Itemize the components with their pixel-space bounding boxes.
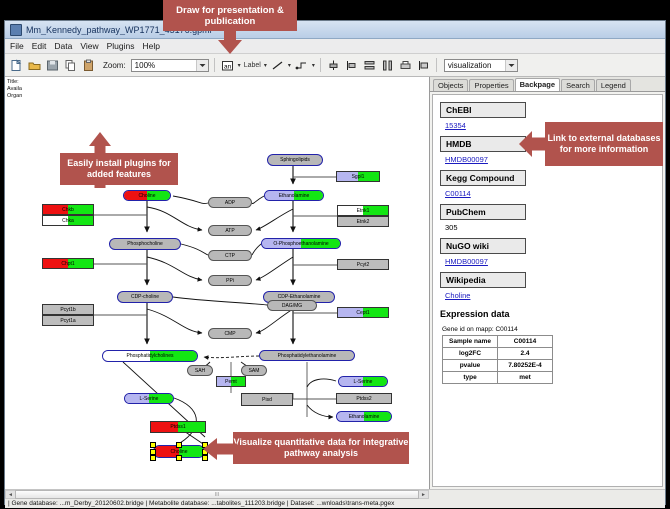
- distribute-vertical-icon[interactable]: [362, 58, 377, 73]
- visualization-chevron-down-icon[interactable]: [505, 60, 517, 71]
- db-header-nugo-wiki: NuGO wiki: [440, 238, 526, 254]
- toolbar-separator-2: [320, 58, 321, 72]
- selection-handle[interactable]: [150, 442, 156, 448]
- title-bar: Mm_Kennedy_pathway_WP1771_45176.gpml: [5, 21, 665, 39]
- gene-label: Pcyt1b: [60, 307, 75, 313]
- scrollbar-thumb[interactable]: III: [15, 490, 419, 499]
- gene-ptdss1[interactable]: Ptdss1: [150, 421, 206, 433]
- menu-item-help[interactable]: Help: [143, 41, 160, 51]
- text-format-icon[interactable]: an: [220, 58, 235, 73]
- metabolite-label: Ethanolamine: [279, 193, 310, 199]
- gene-etnk1[interactable]: Etnk1: [337, 205, 389, 216]
- db-header-kegg-compound: Kegg Compound: [440, 170, 526, 186]
- gene-pcyt1b[interactable]: Pcyt1b: [42, 304, 94, 315]
- status-area: ◄ III ► | Gene database: ...m_Derby_2012…: [5, 489, 665, 508]
- callout-links: Link to external databases for more info…: [545, 122, 663, 166]
- pathway-canvas[interactable]: Title: Availa Organ: [5, 77, 430, 489]
- gene-chka[interactable]: Chka: [42, 215, 94, 226]
- horizontal-scrollbar[interactable]: ◄ III ►: [5, 490, 429, 499]
- metabolite-l-serine[interactable]: L-Serine: [124, 393, 174, 404]
- label-dropdown-icon[interactable]: ▾: [264, 62, 267, 69]
- metabolite-label: Phosphatidylethanolamine: [278, 353, 337, 359]
- print-icon[interactable]: [398, 58, 413, 73]
- tab-search[interactable]: Search: [561, 79, 595, 91]
- menu-item-plugins[interactable]: Plugins: [107, 41, 135, 51]
- tab-properties[interactable]: Properties: [469, 79, 513, 91]
- metabolite-choline[interactable]: Choline: [123, 190, 171, 201]
- paste-icon[interactable]: [81, 58, 96, 73]
- gene-pisd[interactable]: Pisd: [241, 393, 293, 406]
- cofactor-label: SAH: [195, 368, 205, 374]
- gene-pcyt2[interactable]: Pcyt2: [337, 259, 389, 270]
- selection-handle[interactable]: [176, 442, 182, 448]
- line-icon[interactable]: [270, 58, 285, 73]
- menu-item-edit[interactable]: Edit: [32, 41, 47, 51]
- meta-organism-label: Organ: [7, 93, 22, 100]
- table-row: type met: [443, 372, 553, 384]
- expr-value-pvalue: 7.80252E-4: [498, 360, 553, 372]
- metabolite-ethanolamine[interactable]: Ethanolamine: [336, 411, 392, 422]
- selection-handle[interactable]: [150, 449, 156, 455]
- metabolite-label: Phosphocholine: [127, 241, 163, 247]
- gene-label: Chpt1: [61, 261, 74, 267]
- connector-dropdown-icon[interactable]: ▾: [312, 62, 315, 69]
- db-link-wikipedia[interactable]: Choline: [445, 291, 655, 300]
- metabolite-phosphatidylcholines[interactable]: Phosphatidylcholines: [102, 350, 198, 362]
- new-file-icon[interactable]: [9, 58, 24, 73]
- cofactor-label: PPi: [226, 278, 234, 284]
- expr-value-sample-name: C00114: [498, 336, 553, 348]
- menu-item-data[interactable]: Data: [54, 41, 72, 51]
- gene-label: Etnk2: [357, 219, 370, 225]
- cofactor-atp[interactable]: ATP: [208, 225, 252, 236]
- selection-handle[interactable]: [150, 455, 156, 461]
- connector-icon[interactable]: [294, 58, 309, 73]
- app-icon: [10, 24, 22, 36]
- callout-visualize: Visualize quantitative data for integrat…: [233, 432, 409, 464]
- cofactor-label: SAM: [249, 368, 260, 374]
- save-icon[interactable]: [45, 58, 60, 73]
- metabolite-phosphatidylethanolamine[interactable]: Phosphatidylethanolamine: [259, 350, 355, 361]
- cofactor-sah[interactable]: SAH: [187, 365, 213, 376]
- metabolite-label: O-Phosphoethanolamine: [273, 241, 328, 247]
- cofactor-ctp[interactable]: CTP: [208, 250, 252, 261]
- gene-etnk2[interactable]: Etnk2: [337, 216, 389, 227]
- metabolite-label: Phosphatidylcholines: [127, 353, 174, 359]
- toolbar: Zoom: 100% an ▾ Label ▾ ▾ ▾: [5, 54, 665, 77]
- menu-item-file[interactable]: File: [10, 41, 24, 51]
- metabolite-label: Sphingolipids: [280, 157, 310, 163]
- text-format-dropdown-icon[interactable]: ▾: [238, 62, 241, 69]
- expr-key-log2fc: log2FC: [443, 348, 498, 360]
- db-header-pubchem: PubChem: [440, 204, 526, 220]
- cofactor-label: CTP: [225, 253, 235, 259]
- gene-label: Ptdss2: [356, 396, 371, 402]
- distribute-horizontal-icon[interactable]: [380, 58, 395, 73]
- expr-key-type: type: [443, 372, 498, 384]
- cofactor-adp[interactable]: ADP: [208, 197, 252, 208]
- metabolite-label: Choline: [139, 193, 156, 199]
- gene-label: Chkb: [62, 207, 74, 213]
- gene-ptdss2[interactable]: Ptdss2: [336, 393, 392, 404]
- align-left-icon[interactable]: [344, 58, 359, 73]
- svg-text:an: an: [224, 63, 232, 70]
- gene-label: Cept1: [356, 310, 369, 316]
- expression-table: Sample name C00114 log2FC 2.4 pvalue 7.8…: [442, 335, 553, 384]
- cofactor-ppi[interactable]: PPi: [208, 275, 252, 286]
- cofactor-dag-mg[interactable]: DAG/MG: [267, 300, 317, 311]
- db-header-wikipedia: Wikipedia: [440, 272, 526, 288]
- group-icon[interactable]: [416, 58, 431, 73]
- callout-plugins: Easily install plugins for added feature…: [60, 153, 178, 185]
- metabolite-o-phosphoethanolamine[interactable]: O-Phosphoethanolamine: [261, 238, 341, 249]
- menu-item-view[interactable]: View: [80, 41, 98, 51]
- table-row: pvalue 7.80252E-4: [443, 360, 553, 372]
- expr-key-pvalue: pvalue: [443, 360, 498, 372]
- cofactor-label: ATP: [225, 228, 234, 234]
- align-center-icon[interactable]: [326, 58, 341, 73]
- label-button-caption[interactable]: Label: [244, 62, 261, 69]
- callout-draw: Draw for presentation & publication: [163, 0, 297, 31]
- side-panel-tabs: Objects Properties Backpage Search Legen…: [430, 77, 665, 92]
- gene-label: Etnk1: [357, 208, 370, 214]
- tab-backpage[interactable]: Backpage: [515, 78, 560, 91]
- visualization-combo[interactable]: visualization: [444, 59, 518, 72]
- meta-title-label: Title:: [7, 79, 22, 86]
- db-header-hmdb: HMDB: [440, 136, 526, 152]
- visualization-value: visualization: [448, 61, 492, 70]
- metabolite-l-serine[interactable]: L-Serine: [338, 376, 388, 387]
- cofactor-label: DAG/MG: [282, 303, 302, 309]
- gene-label: Pcyt2: [357, 262, 370, 268]
- expr-key-sample-name: Sample name: [443, 336, 498, 348]
- gene-cept1[interactable]: Cept1: [337, 307, 389, 318]
- expr-value-type: met: [498, 372, 553, 384]
- table-row: log2FC 2.4: [443, 348, 553, 360]
- metabolite-ethanolamine[interactable]: Ethanolamine: [264, 190, 324, 201]
- tab-objects[interactable]: Objects: [433, 79, 468, 91]
- gene-label: Sgpl1: [352, 174, 365, 180]
- gene-label: Chka: [62, 218, 74, 224]
- gene-sgpl1[interactable]: Sgpl1: [336, 171, 380, 182]
- callout-visualize-arrow: [203, 437, 237, 461]
- metabolite-sphingolipids[interactable]: Sphingolipids: [267, 154, 323, 166]
- zoom-value: 100%: [135, 61, 155, 70]
- cofactor-sam[interactable]: SAM: [241, 365, 267, 376]
- cofactor-label: CMP: [224, 331, 235, 337]
- toolbar-separator: [214, 58, 215, 72]
- gene-label: Pisd: [262, 397, 272, 403]
- copy-icon[interactable]: [63, 58, 78, 73]
- scroll-left-icon[interactable]: ◄: [6, 491, 15, 498]
- canvas-metadata: Title: Availa Organ: [7, 79, 22, 100]
- chevron-down-icon[interactable]: [196, 60, 208, 71]
- meta-availability-label: Availa: [7, 86, 22, 93]
- gene-chkb[interactable]: Chkb: [42, 204, 94, 215]
- zoom-label: Zoom:: [103, 61, 126, 70]
- db-header-chebi: ChEBI: [440, 102, 526, 118]
- gene-pcyt1a[interactable]: Pcyt1a: [42, 315, 94, 326]
- gene-pemt[interactable]: Pemt: [216, 376, 246, 387]
- status-bar: | Gene database: ...m_Derby_20120602.bri…: [5, 499, 665, 508]
- db-link-kegg-compound[interactable]: C00114: [445, 189, 655, 198]
- db-link-nugo-wiki[interactable]: HMDB00097: [445, 257, 655, 266]
- db-value-pubchem: 305: [445, 223, 655, 232]
- pathvisio-window: Mm_Kennedy_pathway_WP1771_45176.gpml Fil…: [4, 20, 666, 505]
- gene-label: Pemt: [225, 379, 237, 385]
- expr-value-log2fc: 2.4: [498, 348, 553, 360]
- metabolite-label: L-Serine: [140, 396, 159, 402]
- tab-legend[interactable]: Legend: [596, 79, 631, 91]
- table-row: Sample name C00114: [443, 336, 553, 348]
- zoom-combo[interactable]: 100%: [131, 59, 209, 72]
- gene-id-label: Gene id on mapp: C00114: [442, 326, 655, 333]
- metabolite-label: Ethanolamine: [349, 414, 380, 420]
- gene-label: Pcyt1a: [60, 318, 75, 324]
- toolbar-separator-3: [436, 58, 437, 72]
- gene-chpt1[interactable]: Chpt1: [42, 258, 94, 269]
- scroll-right-icon[interactable]: ►: [419, 491, 428, 498]
- menu-bar: File Edit Data View Plugins Help: [5, 39, 665, 54]
- metabolite-phosphocholine[interactable]: Phosphocholine: [109, 238, 181, 250]
- cofactor-label: ADP: [225, 200, 235, 206]
- callout-draw-arrow: [215, 28, 245, 54]
- open-folder-icon[interactable]: [27, 58, 42, 73]
- selection-handle[interactable]: [176, 455, 182, 461]
- metabolite-label: L-Serine: [354, 379, 373, 385]
- cofactor-cmp[interactable]: CMP: [208, 328, 252, 339]
- line-dropdown-icon[interactable]: ▾: [288, 62, 291, 69]
- expression-data-heading: Expression data: [440, 309, 655, 319]
- gene-label: Ptdss1: [170, 424, 185, 430]
- metabolite-label: Choline: [171, 449, 188, 455]
- metabolite-cdp-choline[interactable]: CDP-choline: [117, 291, 173, 303]
- metabolite-label: CDP-choline: [131, 294, 159, 300]
